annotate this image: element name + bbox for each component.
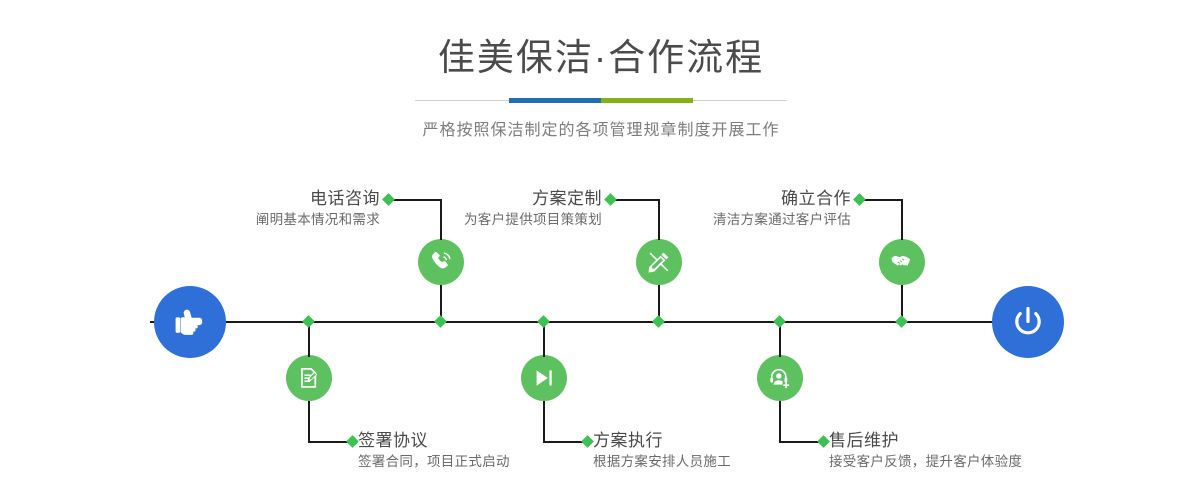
step-node-1 <box>418 239 464 285</box>
step-desc-3: 为客户提供项目策策划 <box>402 210 602 230</box>
step-label-4: 方案执行 根据方案安排人员施工 <box>593 430 731 472</box>
step-node-5 <box>879 239 925 285</box>
step-connector-v-2 <box>308 401 310 442</box>
timeline-diamond-3 <box>652 315 665 328</box>
step-label-diamond-6 <box>817 435 830 448</box>
step-desc-6: 接受客户反馈，提升客户体验度 <box>829 452 1022 472</box>
step-node-3 <box>636 239 682 285</box>
step-title-3: 方案定制 <box>402 188 602 210</box>
process-flow-infographic: 佳美保洁·合作流程 严格按照保洁制定的各项管理规章制度开展工作 <box>0 0 1202 502</box>
step-desc-4: 根据方案安排人员施工 <box>593 452 731 472</box>
timeline-diamond-1 <box>434 315 447 328</box>
phone-call-icon <box>428 249 454 275</box>
timeline-end-endpoint <box>992 286 1064 358</box>
step-label-diamond-1 <box>382 193 395 206</box>
timeline-diamond-6 <box>773 315 786 328</box>
step-title-2: 签署协议 <box>358 430 510 452</box>
support-agent-icon <box>767 365 793 391</box>
step-connector-h-5 <box>860 199 902 201</box>
step-node-2 <box>286 355 332 401</box>
step-label-6: 售后维护 接受客户反馈，提升客户体验度 <box>829 430 1022 472</box>
step-label-2: 签署协议 签署合同，项目正式启动 <box>358 430 510 472</box>
timeline-main-line <box>150 321 1052 323</box>
timeline-diamond-5 <box>895 315 908 328</box>
timeline-diamond-4 <box>537 315 550 328</box>
step-node-4 <box>521 355 567 401</box>
step-desc-2: 签署合同，项目正式启动 <box>358 452 510 472</box>
timeline-diamond-2 <box>302 315 315 328</box>
step-title-1: 电话咨询 <box>184 188 380 210</box>
step-label-3: 方案定制 为客户提供项目策策划 <box>402 188 602 230</box>
timeline: 电话咨询 阐明基本情况和需求 签署协议 签署 <box>0 0 1202 502</box>
step-connector-v-4 <box>543 401 545 442</box>
step-label-diamond-2 <box>346 435 359 448</box>
step-desc-5: 清洁方案通过客户评估 <box>645 210 851 230</box>
pencil-ruler-icon <box>646 249 672 275</box>
step-label-1: 电话咨询 阐明基本情况和需求 <box>184 188 380 230</box>
pointing-hand-icon <box>171 303 209 341</box>
step-label-diamond-5 <box>853 193 866 206</box>
timeline-start-endpoint <box>154 286 226 358</box>
step-label-5: 确立合作 清洁方案通过客户评估 <box>645 188 851 230</box>
step-connector-v-5 <box>901 199 903 240</box>
step-desc-1: 阐明基本情况和需求 <box>184 210 380 230</box>
step-title-5: 确立合作 <box>645 188 851 210</box>
document-edit-icon <box>296 365 322 391</box>
step-label-diamond-3 <box>604 193 617 206</box>
step-node-6 <box>757 355 803 401</box>
step-title-6: 售后维护 <box>829 430 1022 452</box>
step-connector-v-6 <box>779 401 781 442</box>
play-next-icon <box>531 365 557 391</box>
power-icon <box>1008 302 1048 342</box>
handshake-icon <box>889 249 915 275</box>
step-label-diamond-4 <box>581 435 594 448</box>
step-title-4: 方案执行 <box>593 430 731 452</box>
